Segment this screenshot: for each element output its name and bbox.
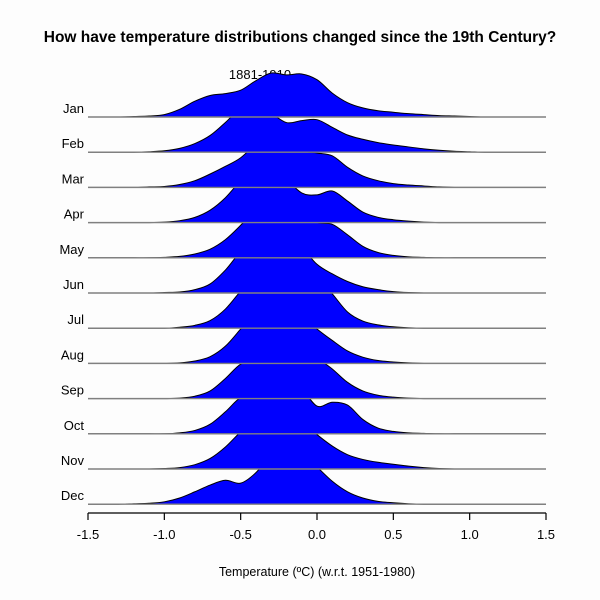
month-label-feb: Feb <box>62 136 84 151</box>
x-axis-title: Temperature (ºC) (w.r.t. 1951-1980) <box>219 565 415 579</box>
x-tick-label: 0.0 <box>308 527 326 542</box>
ridgeline-chart: How have temperature distributions chang… <box>0 0 600 600</box>
chart-title: How have temperature distributions chang… <box>44 29 556 46</box>
month-label-dec: Dec <box>61 488 85 503</box>
month-label-mar: Mar <box>62 171 85 186</box>
month-label-jan: Jan <box>63 101 84 116</box>
month-label-jul: Jul <box>67 312 84 327</box>
month-label-apr: Apr <box>64 207 85 222</box>
x-tick-label: -0.5 <box>229 527 251 542</box>
x-tick-label: -1.5 <box>77 527 99 542</box>
month-label-aug: Aug <box>61 347 84 362</box>
month-label-jun: Jun <box>63 277 84 292</box>
month-label-may: May <box>59 242 84 257</box>
month-label-oct: Oct <box>64 418 85 433</box>
x-tick-label: 0.5 <box>384 527 402 542</box>
month-label-nov: Nov <box>61 453 85 468</box>
x-tick-label: -1.0 <box>153 527 175 542</box>
x-tick-label: 1.5 <box>537 527 555 542</box>
month-label-sep: Sep <box>61 383 84 398</box>
x-tick-label: 1.0 <box>461 527 479 542</box>
